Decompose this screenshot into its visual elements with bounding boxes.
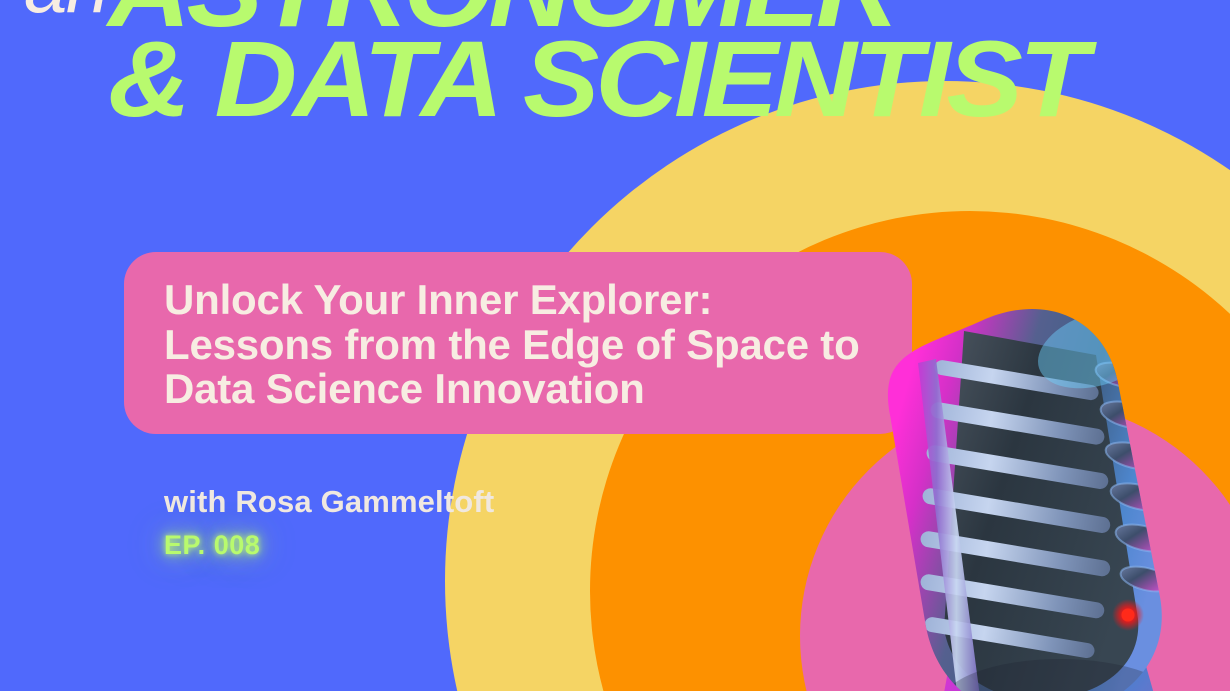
host-name: with Rosa Gammeltoft — [164, 483, 494, 520]
episode-title-card: Unlock Your Inner Explorer: Lessons from… — [124, 252, 912, 434]
podcast-episode-cover: an ASTRONOMER & DATA SCIENTIST Unlock Yo… — [0, 0, 1230, 691]
episode-title: Unlock Your Inner Explorer: Lessons from… — [164, 278, 878, 412]
microphone-led — [1112, 599, 1144, 631]
episode-meta: with Rosa Gammeltoft EP. 008 — [164, 483, 494, 561]
microphone-icon — [860, 297, 1190, 691]
microphone-head — [860, 297, 1180, 691]
episode-number-badge: EP. 008 — [164, 530, 260, 561]
masthead-line-data-scientist: & DATA SCIENTIST — [108, 34, 1085, 125]
masthead-prefix: an — [24, 0, 108, 24]
show-masthead: an ASTRONOMER & DATA SCIENTIST — [0, 0, 1230, 144]
